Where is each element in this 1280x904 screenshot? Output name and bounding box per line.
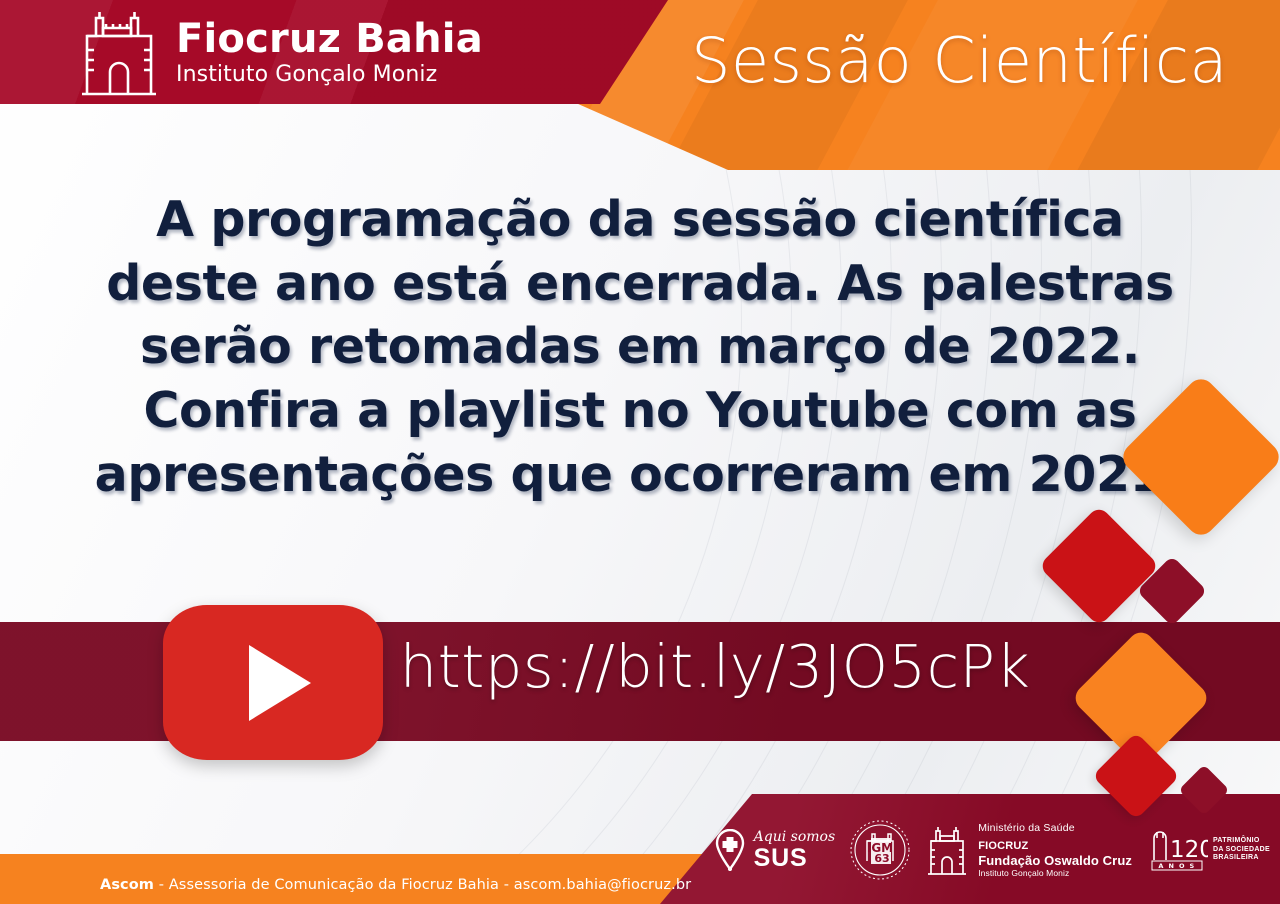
anniversary-caption-2: DA SOCIEDADE xyxy=(1213,846,1270,855)
footer-credit-bold: Ascom xyxy=(100,877,154,893)
ministry-line-1: Ministério da Saúde xyxy=(978,822,1132,834)
igm-years: 63 xyxy=(875,852,890,865)
fiocruz-castle-icon xyxy=(76,6,162,98)
brand-subtitle: Instituto Gonçalo Moniz xyxy=(176,64,483,86)
igm-seal-icon: IGM 63 xyxy=(849,819,911,881)
logo-ministry: Ministério da Saúde FIOCRUZ Fundação Osw… xyxy=(925,822,1132,878)
anniversary-anos: A N O S xyxy=(1158,862,1195,870)
ministry-line-3: Fundação Oswaldo Cruz xyxy=(978,853,1132,868)
brand-name: Fiocruz Bahia xyxy=(176,19,483,59)
brand-logo: Fiocruz Bahia Instituto Gonçalo Moniz xyxy=(76,6,483,98)
footer-logo-group: Aqui somos SUS IGM 63 xyxy=(713,804,1270,896)
message-line-5: apresentações que ocorreram em 2021! xyxy=(40,443,1240,507)
sus-tagline: Aqui somos xyxy=(754,830,836,844)
ministry-line-2: FIOCRUZ xyxy=(978,840,1132,853)
footer-credit-rest: - Assessoria de Comunicação da Fiocruz B… xyxy=(154,877,691,893)
main-message: A programação da sessão científica deste… xyxy=(0,188,1280,506)
message-line-1: A programação da sessão científica xyxy=(40,188,1240,252)
anniversary-number: 120 xyxy=(1170,837,1208,863)
page-title: Sessão Científica xyxy=(691,24,1228,97)
logo-sus: Aqui somos SUS xyxy=(713,829,836,871)
footer-credit: Ascom - Assessoria de Comunicação da Fio… xyxy=(100,877,691,893)
fiocruz-120-anos-icon: 120 A N O S xyxy=(1146,826,1208,874)
fiocruz-castle-icon xyxy=(925,823,969,877)
logo-anniversary: 120 A N O S PATRIMÔNIO DA SOCIEDADE BRAS… xyxy=(1146,826,1270,874)
playlist-url[interactable]: https://bit.ly/3JO5cPk xyxy=(0,632,1280,701)
ministry-line-4: Instituto Gonçalo Moniz xyxy=(978,868,1132,878)
poster-canvas: Sessão Científica Fiocruz Bahia Institut… xyxy=(0,0,1280,904)
message-line-2: deste ano está encerrada. As palestras xyxy=(40,252,1240,316)
anniversary-caption-1: PATRIMÔNIO xyxy=(1213,837,1270,846)
anniversary-caption-3: BRASILEIRA xyxy=(1213,854,1270,863)
sus-pin-cross-icon xyxy=(713,829,747,871)
sus-wordmark: SUS xyxy=(754,846,836,871)
message-line-4: Confira a playlist no Youtube com as xyxy=(40,379,1240,443)
message-line-3: serão retomadas em março de 2022. xyxy=(40,315,1240,379)
